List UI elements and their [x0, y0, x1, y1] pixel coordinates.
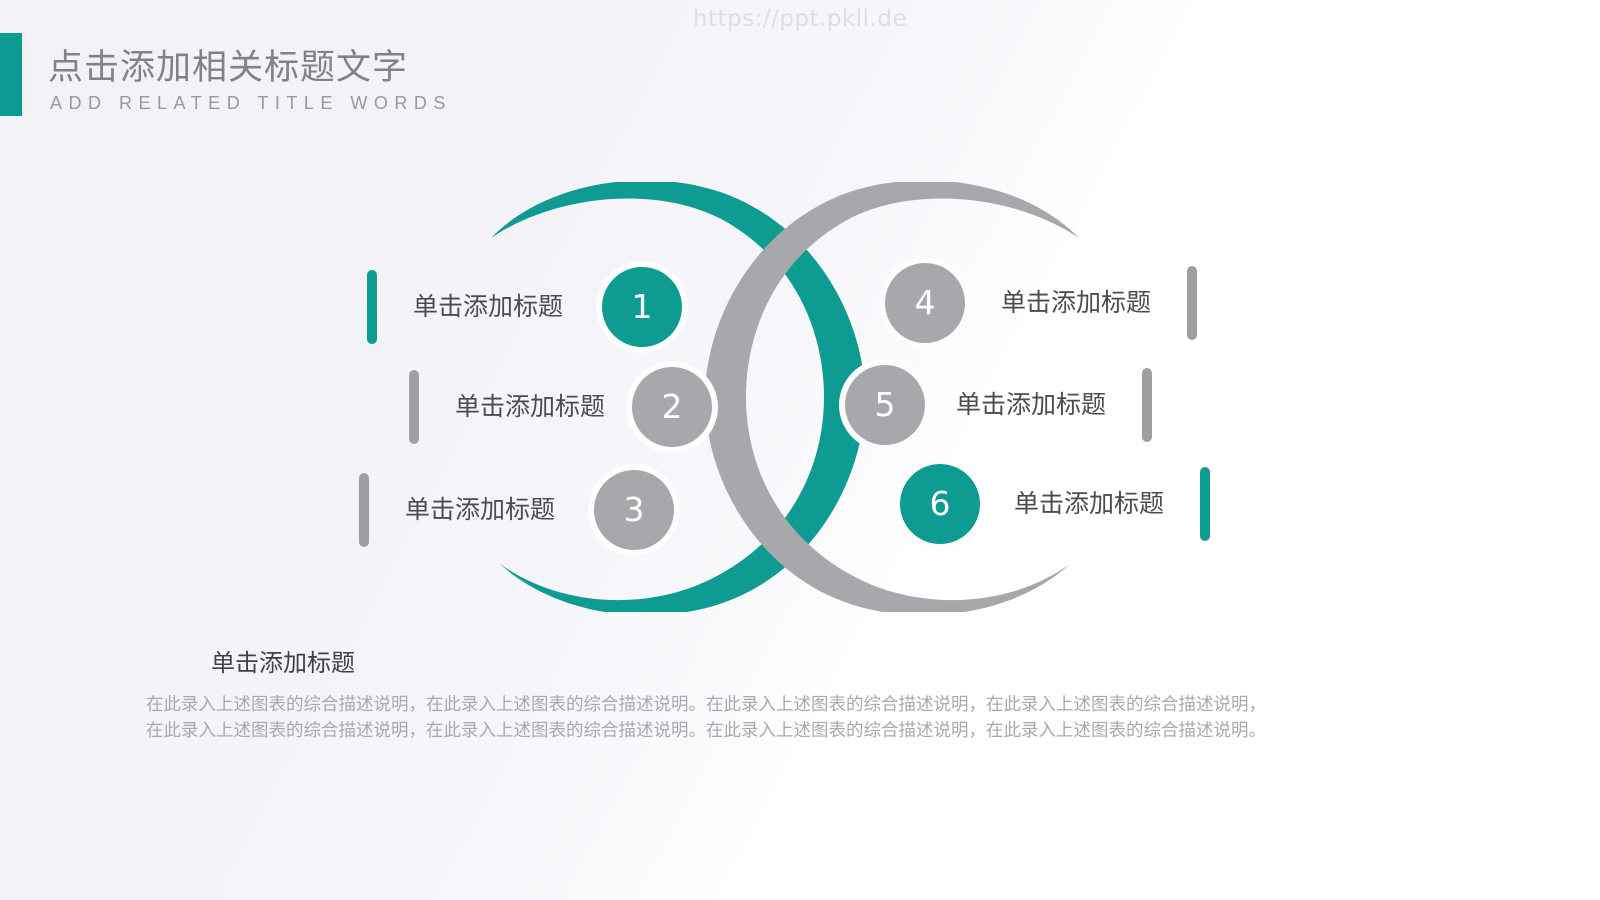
pill-outline [1187, 266, 1197, 340]
pill-outline [359, 473, 369, 547]
pill-number-badge: 2 [632, 367, 712, 447]
pill-number-badge: 1 [602, 267, 682, 347]
pill-label: 单击添加标题 [1001, 266, 1151, 340]
pill-number-badge: 3 [594, 470, 674, 550]
slide-canvas: https://ppt.pkll.de 点击添加相关标题文字 ADD RELAT… [0, 0, 1600, 900]
pill-number-badge: 5 [845, 365, 925, 445]
pill-label: 单击添加标题 [405, 473, 555, 547]
pill-label: 单击添加标题 [455, 370, 605, 444]
page-subtitle: ADD RELATED TITLE WORDS [50, 93, 452, 114]
description-line-1: 在此录入上述图表的综合描述说明，在此录入上述图表的综合描述说明。在此录入上述图表… [146, 692, 1406, 718]
diagram-item-2[interactable]: 单击添加标题 2 [409, 370, 712, 444]
pill-outline [1142, 368, 1152, 442]
diagram-item-5[interactable]: 单击添加标题 5 [845, 368, 1152, 442]
diagram-item-1[interactable]: 单击添加标题 1 [367, 270, 682, 344]
description-line-2: 在此录入上述图表的综合描述说明，在此录入上述图表的综合描述说明。在此录入上述图表… [146, 718, 1406, 744]
watermark-url: https://ppt.pkll.de [0, 6, 1600, 32]
pill-outline [1200, 467, 1210, 541]
pill-number-badge: 4 [885, 263, 965, 343]
description-paragraph: 在此录入上述图表的综合描述说明，在此录入上述图表的综合描述说明。在此录入上述图表… [146, 692, 1406, 744]
pill-outline [367, 270, 377, 344]
diagram-item-6[interactable]: 单击添加标题 6 [900, 467, 1210, 541]
title-accent-bar [0, 33, 22, 116]
pill-label: 单击添加标题 [956, 368, 1106, 442]
page-title: 点击添加相关标题文字 [48, 39, 408, 90]
pill-label: 单击添加标题 [413, 270, 563, 344]
pill-number-badge: 6 [900, 464, 980, 544]
pill-outline [409, 370, 419, 444]
pill-label: 单击添加标题 [1014, 467, 1164, 541]
diagram-item-3[interactable]: 单击添加标题 3 [359, 473, 674, 547]
description-heading: 单击添加标题 [211, 643, 355, 678]
diagram-item-4[interactable]: 单击添加标题 4 [885, 266, 1197, 340]
